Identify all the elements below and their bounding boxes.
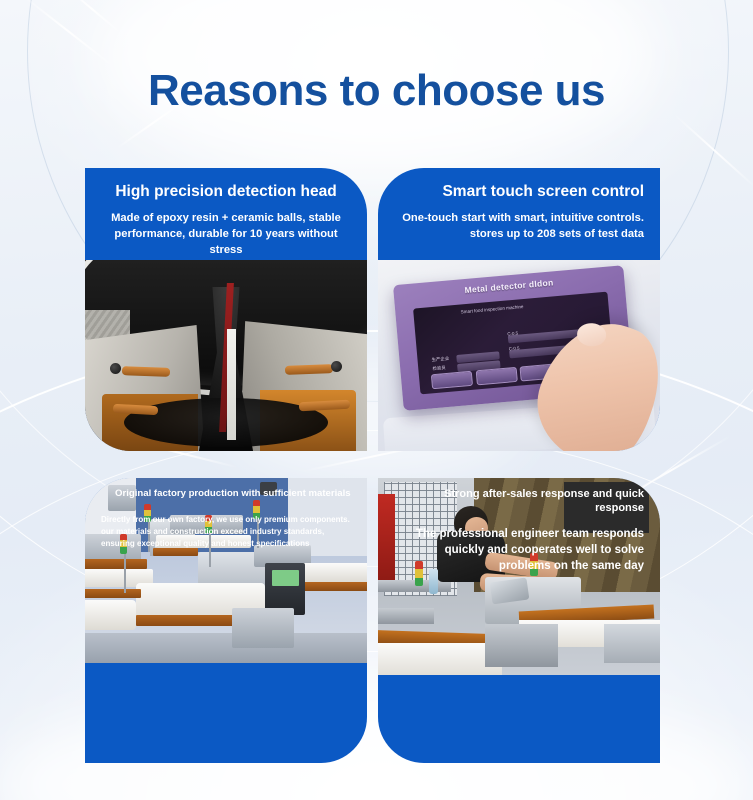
card-heading: Strong after-sales response and quick re… <box>394 488 644 516</box>
card-body: Directly from our own factory, we use on… <box>101 514 351 550</box>
background-streak <box>20 0 116 69</box>
card-smart-touch-screen-control[interactable]: Smart touch screen control One-touch sta… <box>378 168 660 451</box>
card-high-precision-detection-head[interactable]: High precision detection head Made of ep… <box>85 168 367 451</box>
card-body: The professional engineer team responds … <box>394 526 644 575</box>
card-caption: Smart touch screen control One-touch sta… <box>378 168 660 255</box>
card-caption: Original factory production with suffici… <box>85 478 367 564</box>
page-title: Reasons to choose us <box>0 66 753 116</box>
detection-head-interior-photo <box>85 260 367 451</box>
card-caption: Strong after-sales response and quick re… <box>378 478 660 588</box>
card-heading: Original factory production with suffici… <box>101 488 351 501</box>
promo-page: Reasons to choose us High precision dete… <box>0 0 753 800</box>
card-caption: High precision detection head Made of ep… <box>85 168 367 271</box>
card-strong-after-sales-response[interactable]: Strong after-sales response and quick re… <box>378 478 660 763</box>
panel-left-label: 检验员 <box>432 366 446 373</box>
card-body: One-touch start with smart, intuitive co… <box>394 211 644 243</box>
card-body: Made of epoxy resin + ceramic balls, sta… <box>101 211 351 259</box>
card-heading: High precision detection head <box>101 182 351 201</box>
touch-screen-panel-photo: Metal detector dldon Smart food inspecti… <box>378 260 660 451</box>
panel-subtitle-label: Smart food inspection machine <box>460 302 553 317</box>
background-streak <box>673 113 753 188</box>
reasons-card-grid: High precision detection head Made of ep… <box>85 168 669 763</box>
card-heading: Smart touch screen control <box>394 182 644 201</box>
card-original-factory-production[interactable]: Original factory production with suffici… <box>85 478 367 763</box>
panel-left-label: 生产企业 <box>431 356 449 364</box>
background-streak <box>61 0 124 35</box>
